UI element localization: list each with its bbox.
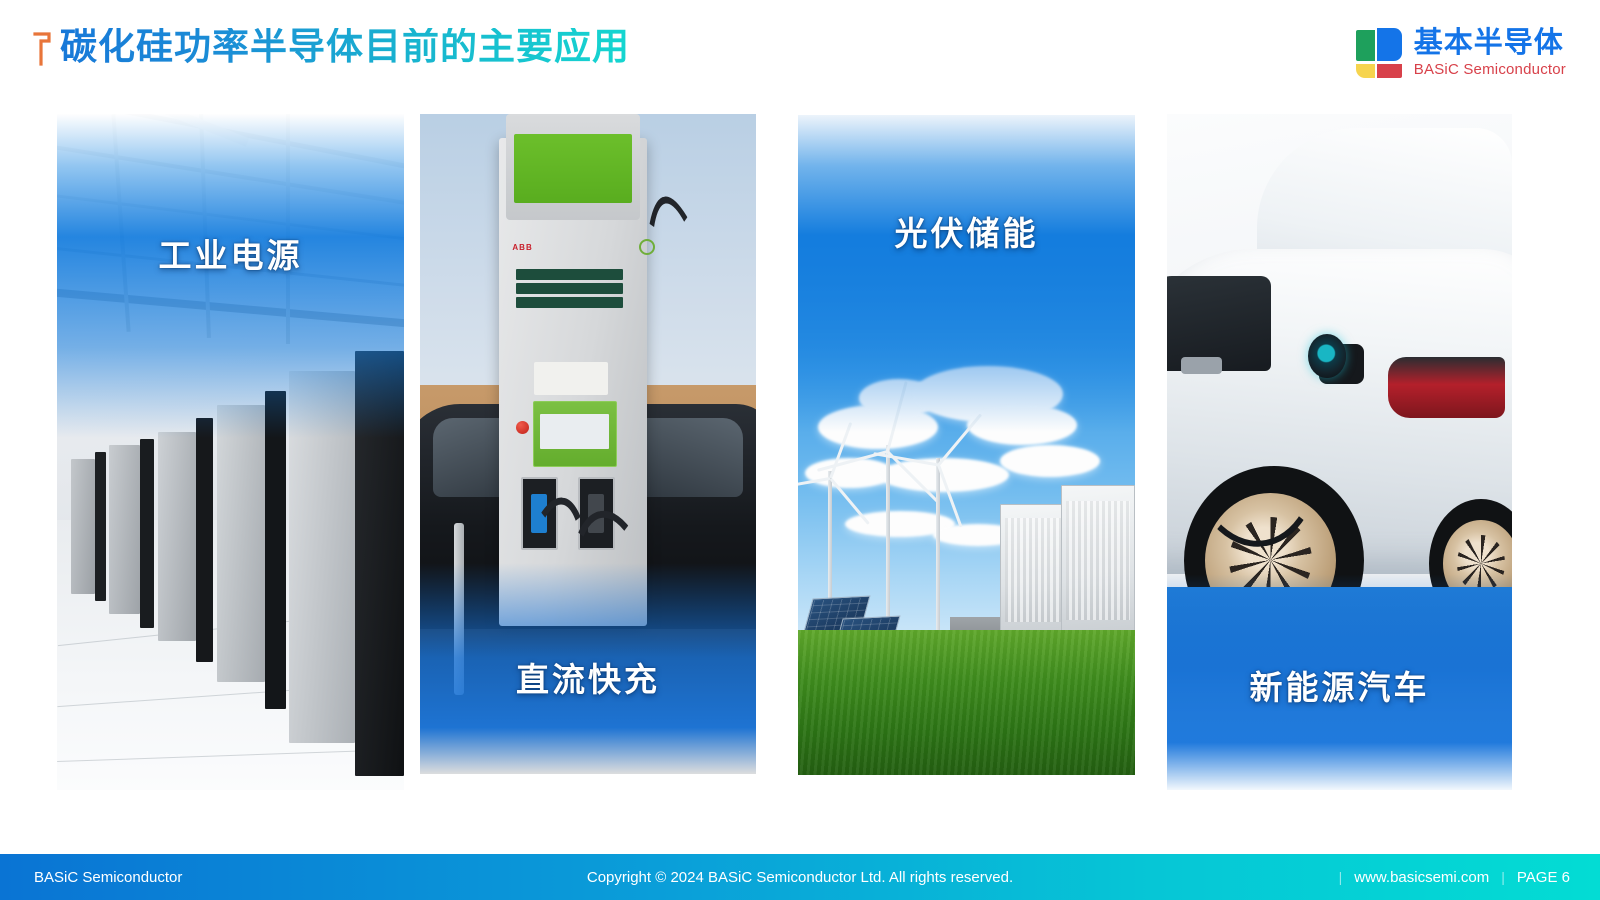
charging-plug-icon (1308, 334, 1346, 378)
panel-new-energy-vehicle[interactable]: 新能源汽车 (1167, 114, 1512, 790)
panel-caption-pv-energy-storage: 光伏储能 (798, 207, 1135, 255)
charger-screen (514, 134, 632, 203)
panel-caption-new-energy-vehicle: 新能源汽车 (1167, 661, 1512, 709)
charger-brand-label: ABB (512, 243, 532, 252)
slide-root: 碳化硅功率半导体目前的主要应用 基本半导体 BASiC Semiconducto… (0, 0, 1600, 900)
panel-dc-fast-charging[interactable]: ABB 直流快充 (420, 114, 756, 774)
panel-caption-industrial-power: 工业电源 (57, 229, 404, 277)
panel-industrial-power[interactable]: 工业电源 (57, 114, 404, 790)
footer-page-number: PAGE 6 (1517, 869, 1570, 886)
panel-caption-dc-fast-charging: 直流快充 (420, 653, 756, 701)
panel3-blue-wash (798, 115, 1135, 432)
footer-right-group: | www.basicsemi.com | PAGE 6 (1339, 869, 1570, 886)
footer-separator-right: | (1501, 869, 1505, 885)
footer-copyright: Copyright © 2024 BASiC Semiconductor Ltd… (587, 869, 1013, 886)
panel-pv-energy-storage[interactable]: 光伏储能 (798, 115, 1135, 775)
footer-separator-left: | (1339, 869, 1343, 885)
footer-company-name: BASiC Semiconductor (34, 869, 182, 886)
application-panels: 工业电源 ABB (0, 0, 1600, 830)
footer-website-link[interactable]: www.basicsemi.com (1354, 869, 1489, 886)
emergency-stop-button (516, 421, 529, 434)
slide-footer: BASiC Semiconductor Copyright © 2024 BAS… (0, 854, 1600, 900)
